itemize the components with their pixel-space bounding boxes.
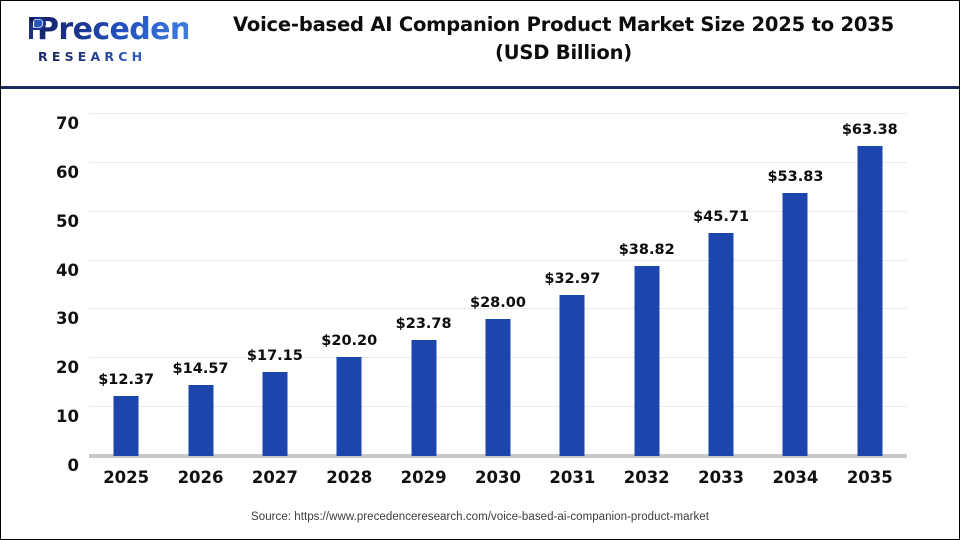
bar-value-label: $45.71 — [693, 209, 749, 225]
bar-slot[interactable]: $17.152027 — [238, 114, 312, 456]
x-axis-tick-label: 2034 — [772, 468, 818, 487]
bar[interactable] — [262, 372, 287, 456]
x-axis-tick-label: 2031 — [549, 468, 595, 487]
bar[interactable] — [337, 357, 362, 456]
x-axis-tick-label: 2028 — [326, 468, 372, 487]
bar[interactable] — [560, 295, 585, 456]
bar-value-label: $17.15 — [247, 348, 303, 364]
bar-value-label: $63.38 — [842, 122, 898, 138]
x-axis-tick-label: 2029 — [401, 468, 447, 487]
page-title: Voice-based AI Companion Product Market … — [191, 11, 936, 66]
bar-value-label: $32.97 — [544, 271, 600, 287]
bar[interactable] — [114, 396, 139, 456]
bar-slot[interactable]: $38.822032 — [610, 114, 684, 456]
bar-slot[interactable]: $23.782029 — [386, 114, 460, 456]
bar-slot[interactable]: $32.972031 — [535, 114, 609, 456]
bar-slot[interactable]: $63.382035 — [833, 114, 907, 456]
bar[interactable] — [634, 266, 659, 456]
bar[interactable] — [411, 340, 436, 456]
bar-value-label: $53.83 — [767, 169, 823, 185]
bars-group: $12.372025$14.572026$17.152027$20.202028… — [89, 114, 907, 456]
bar-value-label: $38.82 — [619, 242, 675, 258]
bar-value-label: $12.37 — [98, 372, 154, 388]
bar-slot[interactable]: $53.832034 — [758, 114, 832, 456]
chart-header: Precedence RESEARCH Voice-based AI Compa… — [1, 1, 959, 89]
x-axis-tick-label: 2033 — [698, 468, 744, 487]
x-axis-tick-label: 2035 — [847, 468, 893, 487]
bar-value-label: $14.57 — [173, 361, 229, 377]
chart-plot-wrapper: 010203040506070 $12.372025$14.572026$17.… — [1, 89, 959, 538]
x-axis-tick-label: 2026 — [178, 468, 224, 487]
bar-value-label: $20.20 — [321, 333, 377, 349]
source-note: Source: https://www.precedenceresearch.c… — [1, 511, 959, 523]
bar-slot[interactable]: $14.572026 — [163, 114, 237, 456]
precedence-research-logo[interactable]: Precedence RESEARCH — [23, 15, 188, 64]
x-axis-tick-label: 2025 — [103, 468, 149, 487]
chart-screenshot: Precedence RESEARCH Voice-based AI Compa… — [0, 0, 960, 540]
bar-slot[interactable]: $20.202028 — [312, 114, 386, 456]
bar-value-label: $23.78 — [396, 316, 452, 332]
bar[interactable] — [783, 193, 808, 456]
precedence-p-mark-icon — [27, 16, 47, 40]
x-axis-tick-label: 2027 — [252, 468, 298, 487]
bar[interactable] — [485, 319, 510, 456]
bar[interactable] — [188, 385, 213, 456]
bar[interactable] — [857, 146, 882, 456]
x-axis-tick-label: 2030 — [475, 468, 521, 487]
bar[interactable] — [709, 233, 734, 456]
bar-slot[interactable]: $45.712033 — [684, 114, 758, 456]
bar-value-label: $28.00 — [470, 295, 526, 311]
bar-slot[interactable]: $12.372025 — [89, 114, 163, 456]
bar-slot[interactable]: $28.002030 — [461, 114, 535, 456]
chart-title-line-2: (USD Billion) — [191, 39, 936, 67]
x-axis-tick-label: 2032 — [624, 468, 670, 487]
logo-wordmark: Precedence — [23, 15, 188, 45]
logo-subtitle: RESEARCH — [23, 49, 188, 64]
chart-title-line-1: Voice-based AI Companion Product Market … — [191, 11, 936, 39]
